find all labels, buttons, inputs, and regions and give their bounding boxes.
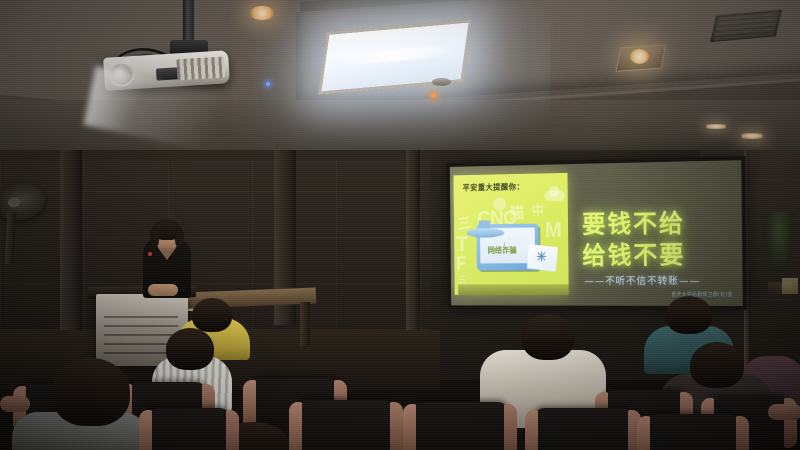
slide-headline-line2: 给钱不要 xyxy=(582,236,685,272)
crack-icon xyxy=(504,230,506,262)
speaker-badge xyxy=(148,252,152,256)
slide-decoration-4: 中 xyxy=(532,204,544,217)
projector-status-led-amber xyxy=(431,93,436,98)
seated-audience xyxy=(0,300,800,450)
slide-left-panel: 三 CNC 猫 中 T F M 三 平安重大提醒你： 网络诈骗 xyxy=(453,173,568,295)
slide-decoration-6: F xyxy=(456,255,467,273)
projector-vent-grille-icon xyxy=(176,56,225,80)
potted-plant xyxy=(762,212,796,282)
ceiling-spot-small-icon xyxy=(249,6,275,20)
document-scribble-icon xyxy=(536,251,548,264)
projector-lens-icon xyxy=(109,63,135,87)
seat-armrest-right[interactable] xyxy=(768,404,800,420)
light-streak xyxy=(333,45,457,67)
slide-decoration-5: T xyxy=(456,234,468,255)
seat-row1-3[interactable] xyxy=(412,402,508,450)
attendee-white-shirt-head xyxy=(522,314,574,360)
slide-decoration-8: 三 xyxy=(458,276,467,285)
slide-decoration-1: 三 xyxy=(457,216,471,232)
screen-surface: 三 CNC 猫 中 T F M 三 平安重大提醒你： 网络诈骗 xyxy=(450,160,743,306)
speaker-hair-left xyxy=(150,228,159,247)
slide-decoration-3: 猫 xyxy=(510,207,525,223)
lecture-hall-photo: 三 CNC 猫 中 T F M 三 平安重大提醒你： 网络诈骗 xyxy=(0,0,800,450)
attendee-front-left-head xyxy=(52,358,130,426)
slide-right-panel: 要钱不给 给钱不要 ——不听不信不转账—— 重庆大学后勤保卫部(处)室 xyxy=(574,169,739,295)
sun-icon xyxy=(493,197,506,211)
speaker-hands xyxy=(148,284,178,296)
monitor-label: 网络诈骗 xyxy=(487,245,516,256)
attendee-yellow-head xyxy=(192,298,232,332)
attendee-striped-head xyxy=(166,328,214,370)
smoke-detector-icon xyxy=(432,78,451,86)
seat-row1-2[interactable] xyxy=(298,400,394,450)
attendee-teal-head xyxy=(666,296,712,334)
wall-sign xyxy=(782,278,798,294)
projection-screen[interactable]: 三 CNC 猫 中 T F M 三 平安重大提醒你： 网络诈骗 xyxy=(446,156,747,310)
ceiling-strip-light-right xyxy=(741,133,763,139)
seat-row1-4[interactable] xyxy=(534,408,632,450)
seat-row1-1[interactable] xyxy=(148,408,230,450)
projector-status-led-blue xyxy=(266,82,270,86)
attendee-right-head xyxy=(690,342,744,388)
fan-hub xyxy=(7,196,21,208)
seat-row1-5[interactable] xyxy=(646,414,740,450)
seat-armrest-left[interactable] xyxy=(0,396,30,412)
recessed-halogen-spot-icon xyxy=(630,49,649,64)
ceiling-strip-light-right-2 xyxy=(706,124,726,129)
slide-subtitle: ——不听不信不转账—— xyxy=(584,272,700,287)
slide-panel-shadow xyxy=(458,284,569,295)
slide-decoration-7: M xyxy=(545,219,562,240)
cloud-icon xyxy=(544,190,565,201)
slide-heading: 平安重大提醒你： xyxy=(463,182,525,194)
